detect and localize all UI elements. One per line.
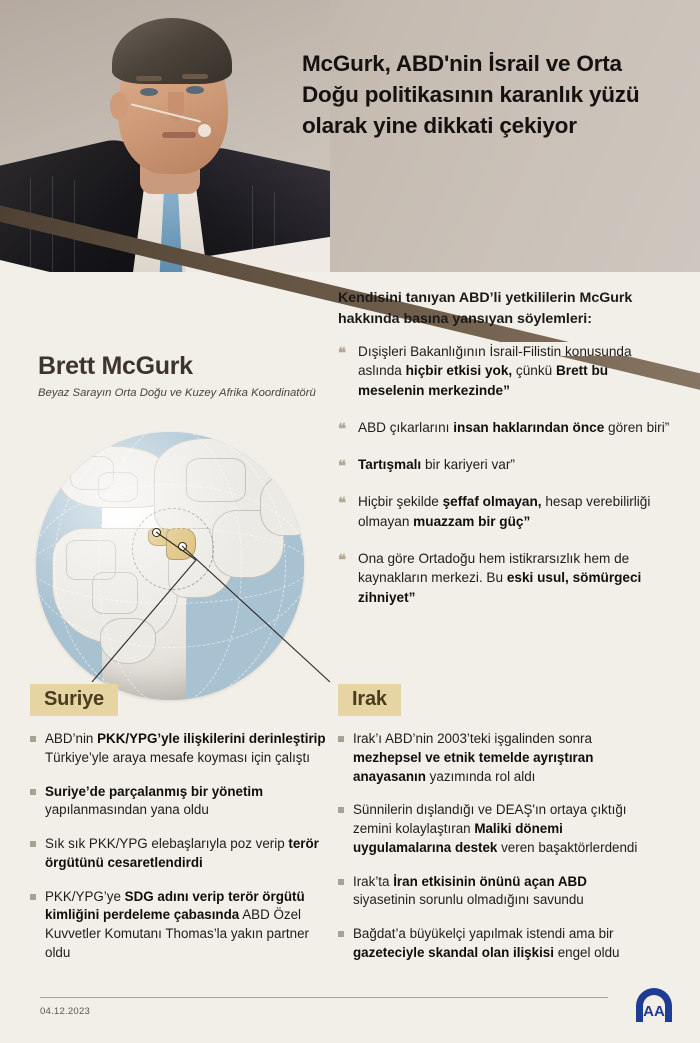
globe-sphere	[36, 432, 304, 700]
bullet-list-irak: Irak’ı ABD’nin 2003’teki işgalinden sonr…	[338, 730, 638, 963]
person-name: Brett McGurk	[38, 352, 328, 381]
anadolu-agency-logo-icon: AA	[632, 986, 676, 1026]
quote-item: ❝Ona göre Ortadoğu hem istikrarsızlık he…	[338, 549, 674, 607]
eyebrow-left	[136, 76, 162, 81]
footer-divider	[40, 997, 608, 998]
quote-text: Tartışmalı bir kariyeri var”	[358, 457, 515, 472]
list-item: Bağdat’a büyükelçi yapılmak istendi ama …	[338, 925, 638, 963]
list-item: Sık sık PKK/YPG elebaşlarıyla poz verip …	[30, 835, 330, 873]
quote-mark-icon: ❝	[338, 456, 345, 477]
map-pin-irak[interactable]	[178, 542, 187, 551]
eye-left	[140, 88, 158, 96]
list-item: Suriye’de parçalanmış bir yönetim yapıla…	[30, 783, 330, 821]
list-item: Irak’ta İran etkisinin önünü açan ABD si…	[338, 873, 638, 911]
eyebrow-right	[182, 74, 208, 79]
eye-right	[186, 86, 204, 94]
quote-mark-icon: ❝	[338, 419, 345, 440]
person-role: Beyaz Sarayın Orta Doğu ve Kuzey Afrika …	[38, 386, 328, 401]
quotes-heading: Kendisini tanıyan ABD’li yetkililerin Mc…	[338, 288, 668, 329]
quote-mark-icon: ❝	[338, 550, 345, 571]
column-tag-suriye: Suriye	[30, 684, 118, 716]
parallel-line	[36, 528, 304, 604]
quote-text: Hiçbir şekilde şeffaf olmayan, hesap ver…	[358, 494, 650, 528]
map-pin-suriye[interactable]	[152, 528, 161, 537]
quote-text: ABD çıkarlarını insan haklarından önce g…	[358, 420, 669, 435]
quote-mark-icon: ❝	[338, 343, 345, 364]
globe-map	[36, 432, 304, 700]
quote-item: ❝Hiçbir şekilde şeffaf olmayan, hesap ve…	[338, 492, 674, 531]
person-block: Brett McGurk Beyaz Sarayın Orta Doğu ve …	[38, 352, 328, 401]
quote-item: ❝Tartışmalı bir kariyeri var”	[338, 455, 674, 474]
column-irak: Irak Irak’ı ABD’nin 2003’teki işgalinden…	[338, 684, 638, 978]
column-tag-irak: Irak	[338, 684, 401, 716]
quote-text: Ona göre Ortadoğu hem istikrarsızlık hem…	[358, 551, 641, 605]
ear	[110, 92, 128, 120]
list-item: PKK/YPG’ye SDG adını verip terör örgütü …	[30, 888, 330, 963]
list-item: ABD’nin PKK/YPG’yle ilişkilerini derinle…	[30, 730, 330, 768]
infographic-page: McGurk, ABD'nin İsrail ve Orta Doğu poli…	[0, 0, 700, 1043]
list-item: Sünnilerin dışlandığı ve DEAŞ'ın ortaya …	[338, 801, 638, 857]
column-suriye: Suriye ABD’nin PKK/YPG’yle ilişkilerini …	[30, 684, 330, 978]
quote-item: ❝Dışişleri Bakanlığının İsrail-Filistin …	[338, 342, 674, 400]
quote-text: Dışişleri Bakanlığının İsrail-Filistin k…	[358, 344, 632, 398]
mouth	[162, 132, 196, 138]
bullet-list-suriye: ABD’nin PKK/YPG’yle ilişkilerini derinle…	[30, 730, 330, 963]
quote-item: ❝ABD çıkarlarını insan haklarından önce …	[338, 418, 674, 437]
page-title: McGurk, ABD'nin İsrail ve Orta Doğu poli…	[302, 48, 662, 141]
headset-mic-tip-icon	[198, 124, 211, 137]
quotes-list: ❝Dışişleri Bakanlığının İsrail-Filistin …	[338, 342, 674, 625]
list-item: Irak’ı ABD’nin 2003’teki işgalinden sonr…	[338, 730, 638, 786]
svg-text:AA: AA	[643, 1003, 665, 1020]
footer-date: 04.12.2023	[40, 1006, 90, 1017]
quote-mark-icon: ❝	[338, 493, 345, 514]
